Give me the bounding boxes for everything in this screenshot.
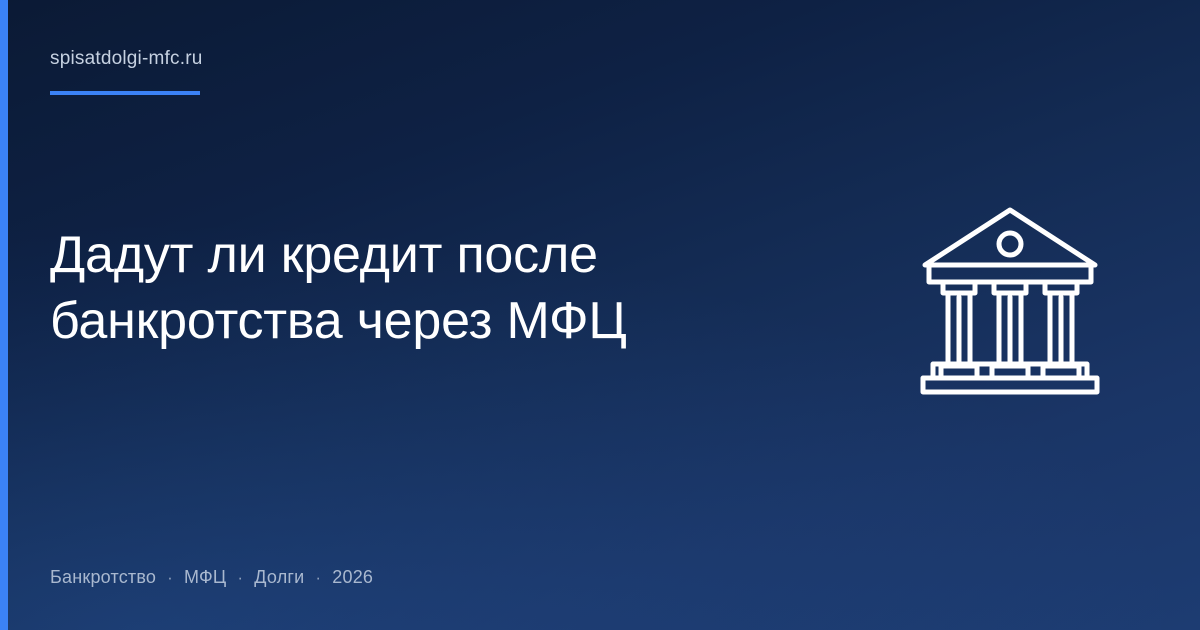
page-title: Дадут ли кредит после банкротства через … <box>50 222 740 354</box>
meta-tag-org: МФЦ <box>184 567 226 588</box>
meta-tag-topic: Долги <box>254 567 304 588</box>
site-domain: spisatdolgi-mfc.ru <box>50 48 202 70</box>
left-accent-bar <box>0 0 8 630</box>
meta-tag-year: 2026 <box>332 567 373 588</box>
meta-tags-row: Банкротство · МФЦ · Долги · 2026 <box>50 567 373 588</box>
meta-separator: · <box>315 569 321 586</box>
meta-separator: · <box>167 569 173 586</box>
meta-separator: · <box>237 569 243 586</box>
domain-underline <box>50 91 200 95</box>
card-content: spisatdolgi-mfc.ru Дадут ли кредит после… <box>0 0 1200 630</box>
meta-tag-category: Банкротство <box>50 567 156 588</box>
bank-columns-icon <box>915 202 1105 398</box>
og-preview-card: spisatdolgi-mfc.ru Дадут ли кредит после… <box>0 0 1200 630</box>
